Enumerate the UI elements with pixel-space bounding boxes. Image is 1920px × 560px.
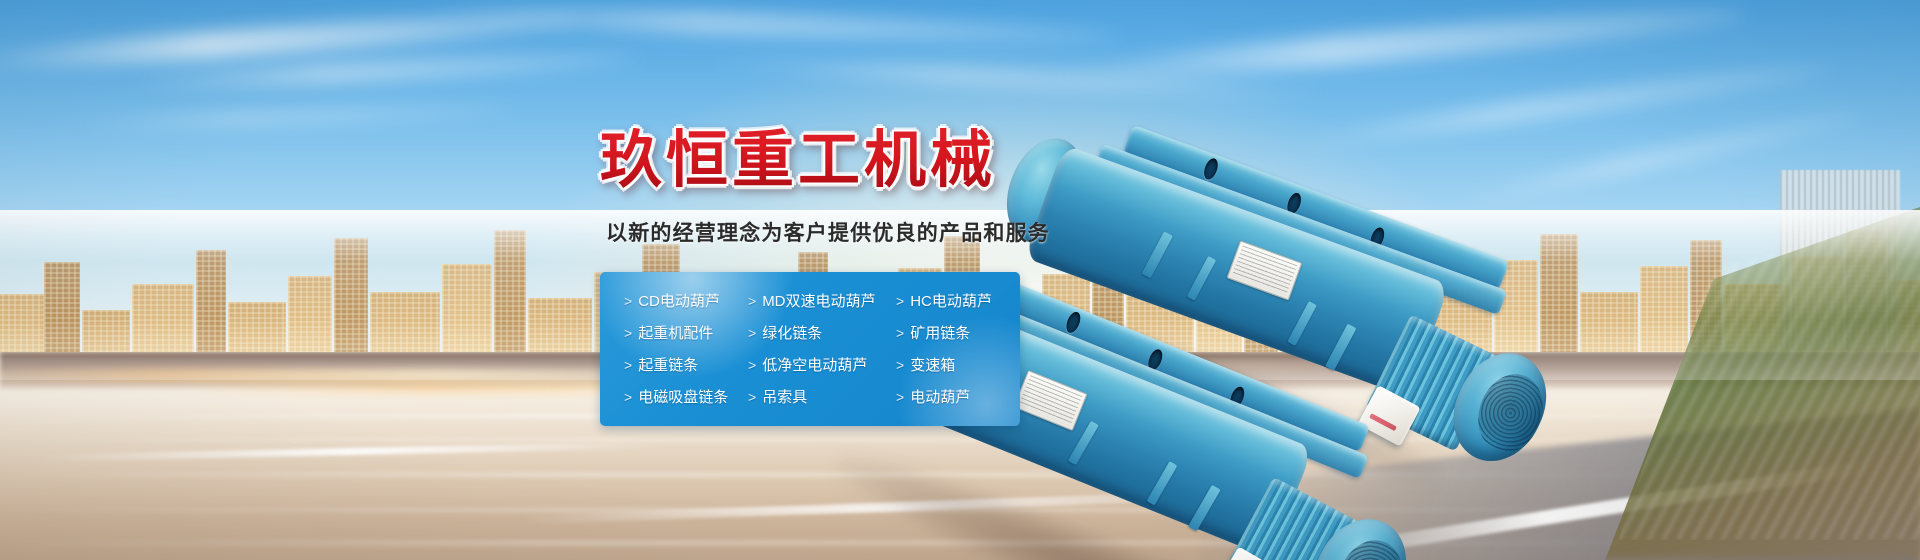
product-link-greening-chain[interactable]: > 绿化链条 xyxy=(748,326,896,341)
chevron-right-icon: > xyxy=(896,294,904,308)
product-link-md-dual-speed-hoist[interactable]: > MD双速电动葫芦 xyxy=(748,294,896,309)
product-links-row: > 电磁吸盘链条 > 吊索具 > 电动葫芦 xyxy=(600,381,1020,413)
hero-banner: 玖恒重工机械 以新的经营理念为客户提供优良的产品和服务 > CD电动葫芦 > M… xyxy=(0,0,1920,560)
product-link-label: 电磁吸盘链条 xyxy=(638,390,728,405)
chevron-right-icon: > xyxy=(748,326,756,340)
chevron-right-icon: > xyxy=(896,326,904,340)
product-links-row: > 起重机配件 > 绿化链条 > 矿用链条 xyxy=(600,317,1020,349)
product-link-label: 起重链条 xyxy=(638,358,698,373)
chevron-right-icon: > xyxy=(748,390,756,404)
product-link-label: 低净空电动葫芦 xyxy=(762,358,867,373)
product-links-row: > CD电动葫芦 > MD双速电动葫芦 > HC电动葫芦 xyxy=(600,285,1020,317)
product-link-gearbox[interactable]: > 变速箱 xyxy=(896,358,1020,373)
product-link-lifting-chain[interactable]: > 起重链条 xyxy=(600,358,748,373)
product-link-low-headroom-hoist[interactable]: > 低净空电动葫芦 xyxy=(748,358,896,373)
product-link-label: 起重机配件 xyxy=(638,326,713,341)
product-link-label: CD电动葫芦 xyxy=(638,294,720,309)
hero-text-block: 玖恒重工机械 以新的经营理念为客户提供优良的产品和服务 xyxy=(600,128,1050,247)
chevron-right-icon: > xyxy=(624,358,632,372)
chevron-right-icon: > xyxy=(748,358,756,372)
product-link-label: 矿用链条 xyxy=(910,326,970,341)
chevron-right-icon: > xyxy=(624,294,632,308)
chevron-right-icon: > xyxy=(624,326,632,340)
product-link-cd-hoist[interactable]: > CD电动葫芦 xyxy=(600,294,748,309)
far-tower xyxy=(1780,170,1900,350)
product-links-panel: > CD电动葫芦 > MD双速电动葫芦 > HC电动葫芦 > 起重机配件 > 绿… xyxy=(600,272,1020,426)
product-link-label: 绿化链条 xyxy=(762,326,822,341)
product-links-row: > 起重链条 > 低净空电动葫芦 > 变速箱 xyxy=(600,349,1020,381)
product-link-magnetic-chuck-chain[interactable]: > 电磁吸盘链条 xyxy=(600,390,748,405)
product-link-label: 电动葫芦 xyxy=(910,390,970,405)
product-link-label: HC电动葫芦 xyxy=(910,294,992,309)
chevron-right-icon: > xyxy=(748,294,756,308)
page-subtitle: 以新的经营理念为客户提供优良的产品和服务 xyxy=(606,217,1050,247)
product-link-hc-hoist[interactable]: > HC电动葫芦 xyxy=(896,294,1020,309)
product-link-mining-chain[interactable]: > 矿用链条 xyxy=(896,326,1020,341)
asphalt-curve xyxy=(1200,408,1920,560)
chevron-right-icon: > xyxy=(896,390,904,404)
product-link-label: MD双速电动葫芦 xyxy=(762,294,875,309)
page-title: 玖恒重工机械 xyxy=(600,128,1050,195)
product-link-label: 变速箱 xyxy=(910,358,955,373)
product-link-label: 吊索具 xyxy=(762,390,807,405)
chevron-right-icon: > xyxy=(896,358,904,372)
product-link-electric-hoist[interactable]: > 电动葫芦 xyxy=(896,390,1020,405)
chevron-right-icon: > xyxy=(624,390,632,404)
product-link-crane-parts[interactable]: > 起重机配件 xyxy=(600,326,748,341)
product-link-slings[interactable]: > 吊索具 xyxy=(748,390,896,405)
